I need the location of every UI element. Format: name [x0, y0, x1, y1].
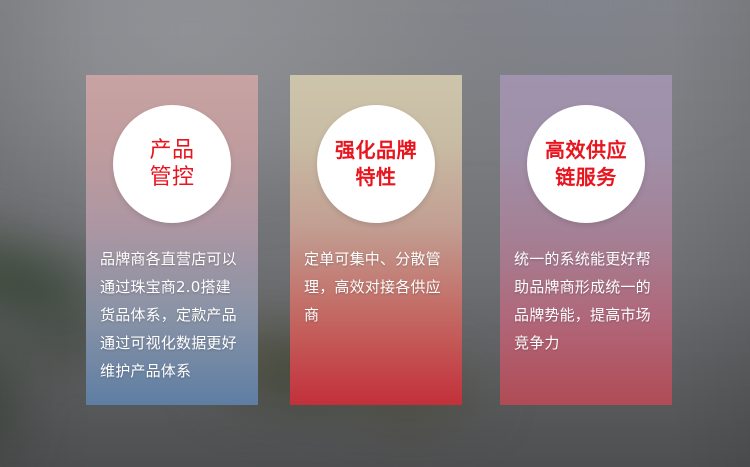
- feature-card-product-control[interactable]: 产品 管控 品牌商各直营店可以通过珠宝商2.0搭建货品体系，定款产品通过可视化数…: [86, 75, 258, 405]
- promo-banner: 产品 管控 品牌商各直营店可以通过珠宝商2.0搭建货品体系，定款产品通过可视化数…: [0, 0, 750, 467]
- card-body-text: 定单可集中、分散管理，高效对接各供应商: [304, 245, 448, 329]
- feature-card-supply-chain[interactable]: 高效供应 链服务 统一的系统能更好帮助品牌商形成统一的品牌势能，提高市场竞争力: [500, 75, 672, 405]
- card-title: 产品 管控: [149, 137, 194, 191]
- card-body-text: 品牌商各直营店可以通过珠宝商2.0搭建货品体系，定款产品通过可视化数据更好维护产…: [100, 245, 244, 385]
- feature-card-list: 产品 管控 品牌商各直营店可以通过珠宝商2.0搭建货品体系，定款产品通过可视化数…: [0, 0, 750, 467]
- card-title-circle: 高效供应 链服务: [527, 105, 645, 223]
- card-title-circle: 强化品牌 特性: [317, 105, 435, 223]
- card-title-circle: 产品 管控: [113, 105, 231, 223]
- card-body-text: 统一的系统能更好帮助品牌商形成统一的品牌势能，提高市场竞争力: [514, 245, 658, 357]
- card-title: 高效供应 链服务: [545, 137, 627, 191]
- card-title: 强化品牌 特性: [335, 137, 417, 191]
- feature-card-brand-identity[interactable]: 强化品牌 特性 定单可集中、分散管理，高效对接各供应商: [290, 75, 462, 405]
